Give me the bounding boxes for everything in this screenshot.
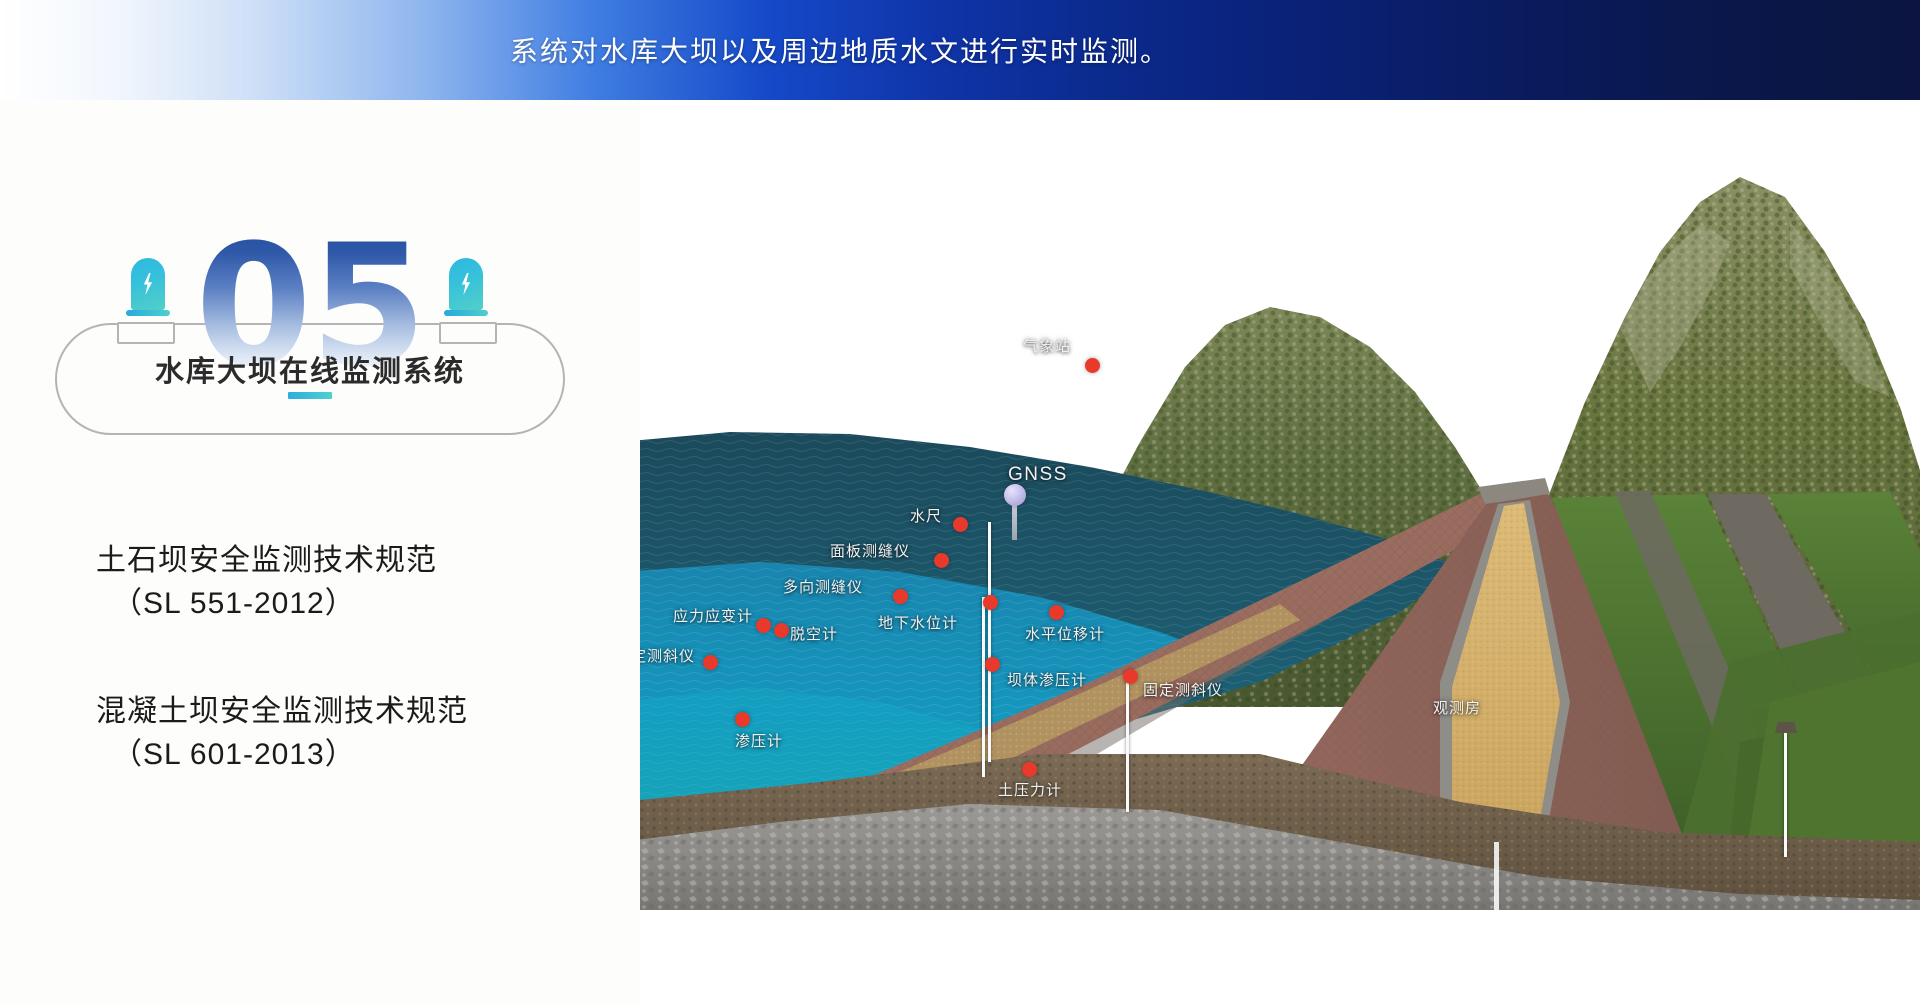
sensor-dot[interactable] (774, 623, 789, 638)
dam-cross-section-svg (640, 142, 1920, 910)
grout-curtain (1494, 842, 1499, 910)
pole-observation (1784, 732, 1787, 857)
sensor-dot[interactable] (985, 657, 1000, 672)
sensor-dot[interactable] (1123, 669, 1138, 684)
lamp-plug-right (439, 322, 497, 344)
bolt-icon-left (142, 273, 155, 295)
sensor-dot[interactable] (1049, 605, 1064, 620)
pole-dam-piezo (988, 522, 991, 762)
bolt-icon-right (460, 273, 473, 295)
standard-name: 土石坝安全监测技术规范 (96, 540, 596, 583)
title-underline (288, 392, 332, 399)
gnss-antenna-stem (1012, 500, 1017, 540)
lamp-dome-right (449, 258, 483, 310)
header-banner: 系统对水库大坝以及周边地质水文进行实时监测。 (0, 0, 1920, 100)
sensor-dot[interactable] (953, 517, 968, 532)
sensor-dot[interactable] (703, 655, 718, 670)
standard-item: 混凝土坝安全监测技术规范 （SL 601-2013） (96, 691, 596, 776)
standard-code: （SL 551-2012） (96, 583, 596, 626)
lamp-plug-left (117, 322, 175, 344)
standard-name: 混凝土坝安全监测技术规范 (96, 691, 596, 734)
lamp-base-right (444, 310, 488, 316)
gnss-antenna-icon (1004, 484, 1026, 506)
pole-inclinometer (1126, 672, 1129, 812)
left-panel: 05 水库大坝在线监测系统 土石坝安全监测技术规范 （SL 551-2012） … (0, 100, 640, 1003)
lightning-bolt-lamp-icon (444, 258, 488, 334)
observation-house-icon (1775, 722, 1797, 733)
sensor-dot[interactable] (735, 712, 750, 727)
pole-water-level (982, 597, 985, 777)
sensor-dot[interactable] (756, 618, 771, 633)
lamp-dome-left (131, 258, 165, 310)
section-badge: 05 水库大坝在线监测系统 (55, 230, 565, 435)
lamp-base-left (126, 310, 170, 316)
sensor-dot[interactable] (893, 589, 908, 604)
sensor-dot[interactable] (934, 553, 949, 568)
standard-item: 土石坝安全监测技术规范 （SL 551-2012） (96, 540, 596, 625)
standards-list: 土石坝安全监测技术规范 （SL 551-2012） 混凝土坝安全监测技术规范 （… (96, 540, 596, 842)
sensor-dot[interactable] (1085, 358, 1100, 373)
reservoir-dam-monitoring-illustration: 气象站GNSS水尺面板测缝仪多向测缝仪应力应变计脱空计地下水位计水平位移计面板固… (640, 142, 1920, 910)
section-title: 水库大坝在线监测系统 (55, 348, 565, 390)
standard-code: （SL 601-2013） (96, 734, 596, 777)
header-title: 系统对水库大坝以及周边地质水文进行实时监测。 (510, 30, 1170, 70)
sensor-dot[interactable] (983, 595, 998, 610)
lightning-bolt-lamp-icon (126, 258, 170, 334)
sensor-dot[interactable] (1022, 762, 1037, 777)
